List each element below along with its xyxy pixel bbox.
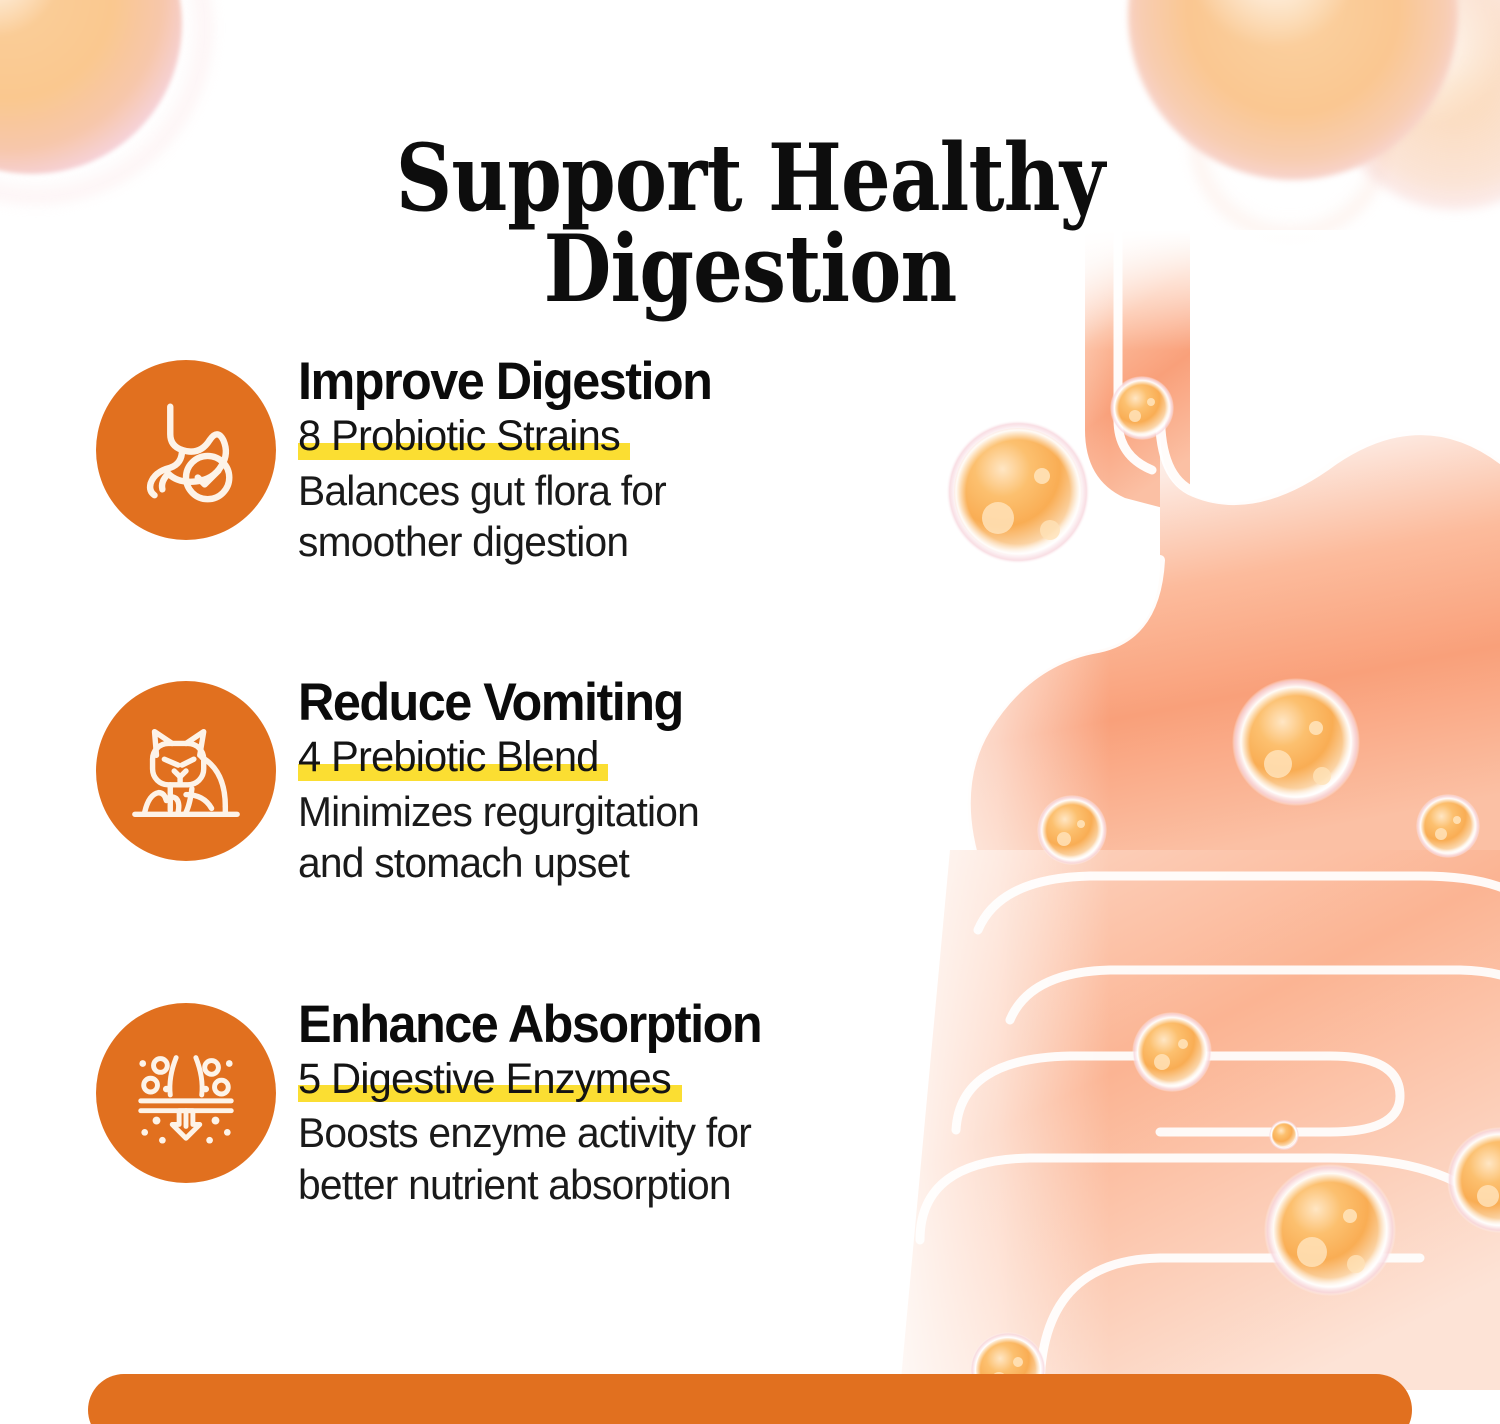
feature-description: Boosts enzyme activity for better nutrie… xyxy=(298,1107,956,1209)
feature-text-block: Reduce Vomiting 4 Prebiotic Blend Minimi… xyxy=(298,673,976,888)
feature-item-reduce-vomiting: Reduce Vomiting 4 Prebiotic Blend Minimi… xyxy=(96,673,976,888)
feature-subtitle: 4 Prebiotic Blend xyxy=(298,732,599,783)
feature-subtitle: 5 Digestive Enzymes xyxy=(298,1054,671,1105)
title-line-2: Digestion xyxy=(120,223,1380,314)
vomiting-cat-icon xyxy=(96,681,276,861)
feature-list: Improve Digestion 8 Probiotic Strains Ba… xyxy=(96,352,976,1210)
feature-description: Balances gut flora for smoother digestio… xyxy=(298,465,956,567)
title-line-1: Support Healthy xyxy=(120,132,1380,223)
feature-description-line: Minimizes regurgitation xyxy=(298,786,956,837)
feature-subtitle: 8 Probiotic Strains xyxy=(298,411,620,462)
feature-item-improve-digestion: Improve Digestion 8 Probiotic Strains Ba… xyxy=(96,352,976,567)
nutrient-absorption-icon xyxy=(96,1003,276,1183)
page-title: Support Healthy Digestion xyxy=(120,132,1380,314)
feature-title: Enhance Absorption xyxy=(298,997,942,1052)
feature-subtitle-wrap: 8 Probiotic Strains xyxy=(298,411,630,462)
feature-title: Improve Digestion xyxy=(298,354,942,409)
feature-subtitle-wrap: 4 Prebiotic Blend xyxy=(298,732,608,783)
feature-description-line: Balances gut flora for xyxy=(298,465,956,516)
feature-description-line: smoother digestion xyxy=(298,516,956,567)
feature-subtitle-wrap: 5 Digestive Enzymes xyxy=(298,1054,682,1105)
stomach-check-icon xyxy=(96,360,276,540)
feature-description: Minimizes regurgitation and stomach upse… xyxy=(298,786,956,888)
feature-title: Reduce Vomiting xyxy=(298,675,942,730)
feature-description-line: better nutrient absorption xyxy=(298,1159,956,1210)
feature-text-block: Improve Digestion 8 Probiotic Strains Ba… xyxy=(298,352,976,567)
bottom-accent-bar xyxy=(88,1374,1412,1424)
feature-description-line: and stomach upset xyxy=(298,837,956,888)
feature-text-block: Enhance Absorption 5 Digestive Enzymes B… xyxy=(298,995,976,1210)
product-infographic: Support Healthy Digestion Improve Digest… xyxy=(0,0,1500,1424)
feature-item-enhance-absorption: Enhance Absorption 5 Digestive Enzymes B… xyxy=(96,995,976,1210)
feature-description-line: Boosts enzyme activity for xyxy=(298,1107,956,1158)
